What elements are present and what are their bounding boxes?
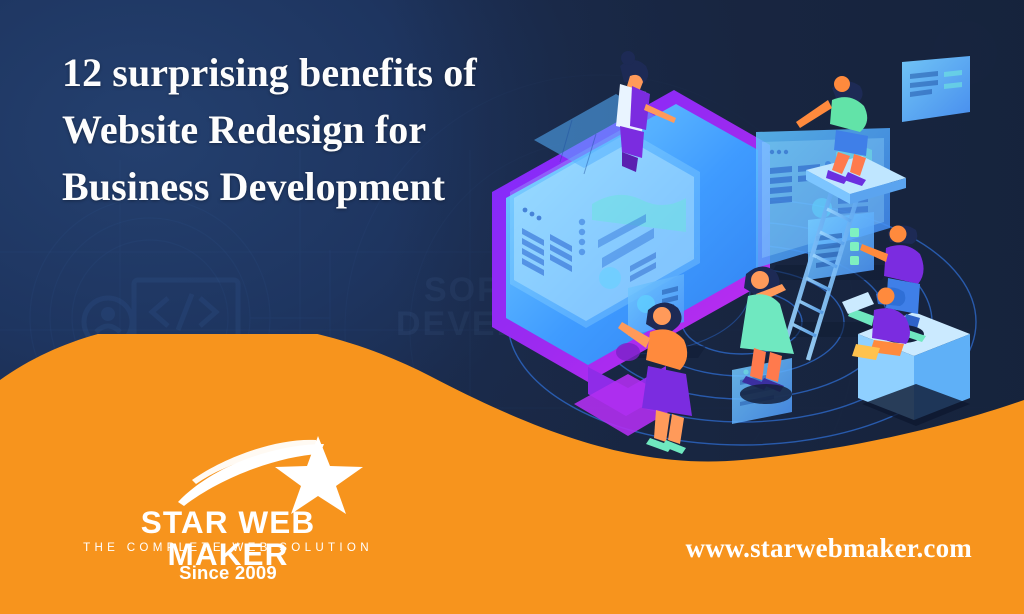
page-title-line-1: 12 surprising benefits of	[62, 44, 662, 101]
logo-name: STAR WEB MAKER	[78, 507, 378, 570]
banner-canvas: SOFTWARE DEVELOPMENT R	[0, 0, 1024, 614]
website-url[interactable]: www.starwebmaker.com	[686, 533, 972, 564]
page-title-line-2: Website Redesign for	[62, 101, 662, 158]
logo-since: Since 2009	[78, 564, 378, 583]
shooting-star-icon	[174, 436, 364, 514]
page-title: 12 surprising benefits of Website Redesi…	[62, 44, 662, 216]
stats-panel-top-right	[902, 56, 970, 122]
page-title-line-3: Business Development	[62, 158, 662, 215]
logo-tagline: THE COMPLETE WEB SOLUTION	[78, 542, 378, 554]
logo-star-web-maker[interactable]: STAR WEB MAKER THE COMPLETE WEB SOLUTION…	[78, 436, 378, 586]
